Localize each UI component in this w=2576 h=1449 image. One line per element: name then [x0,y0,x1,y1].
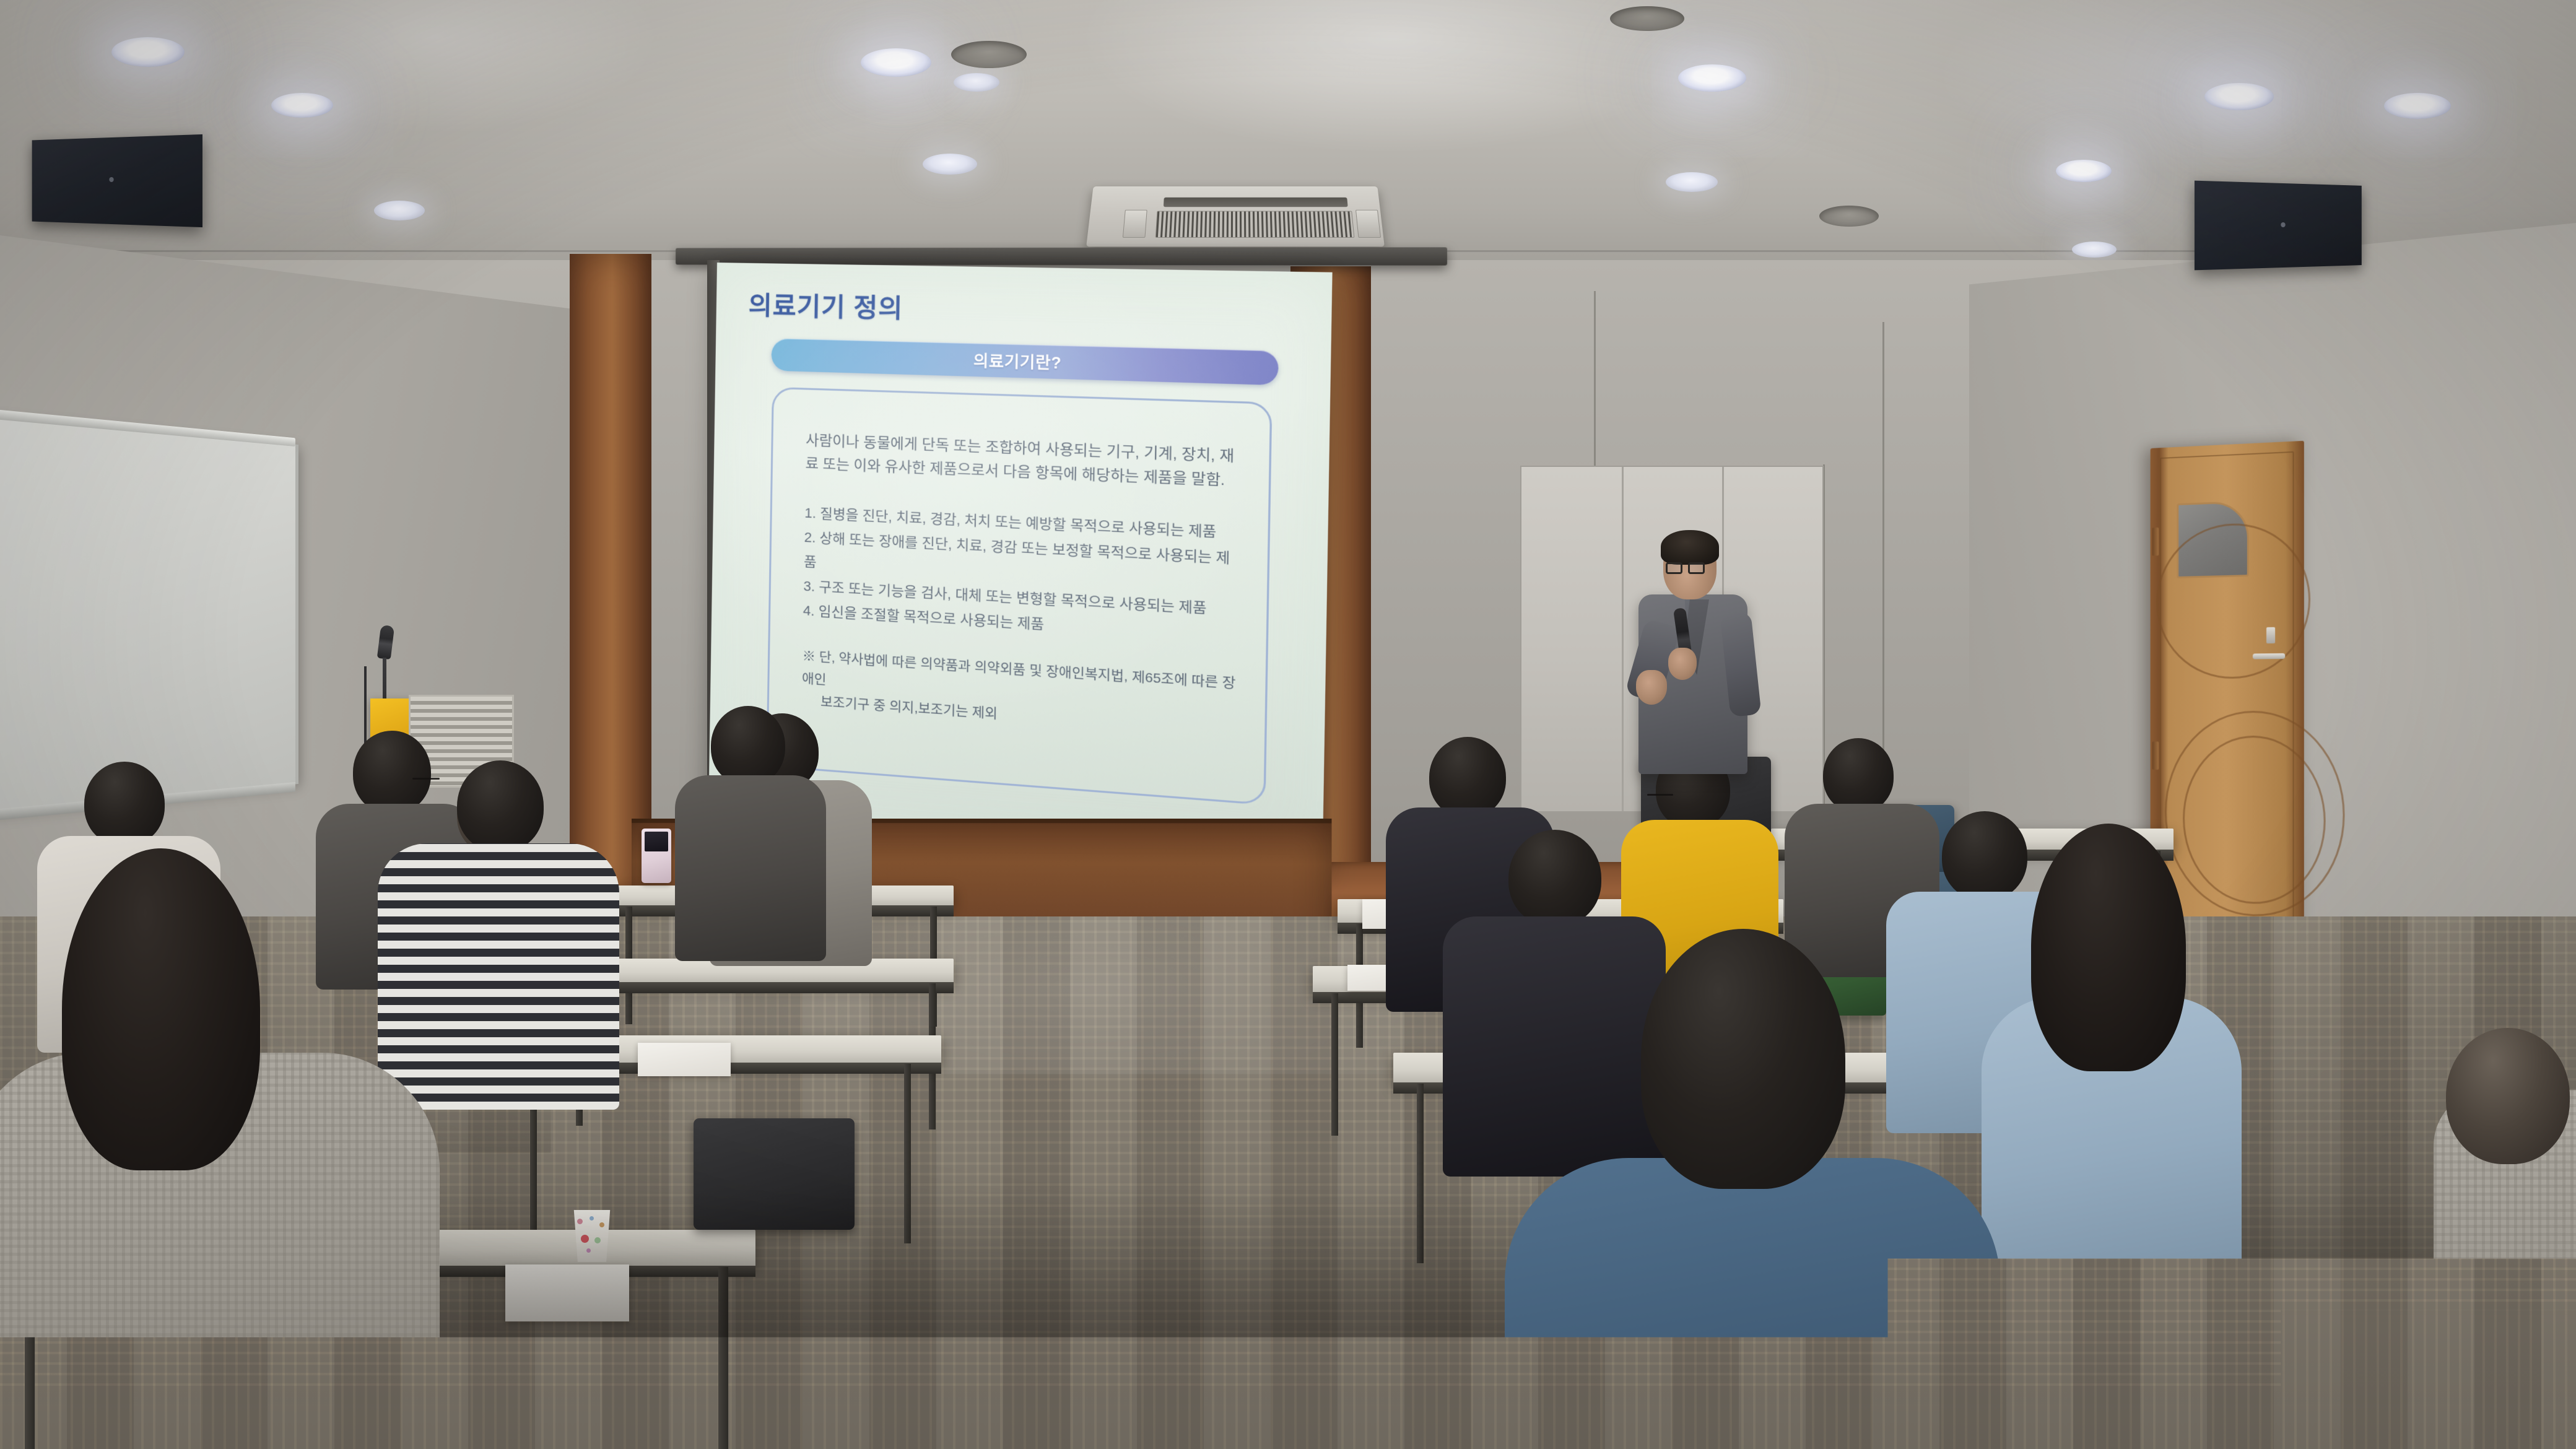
ceiling-ac-unit [1086,186,1385,246]
person-body [1443,916,1666,1177]
ceiling-vent-icon [1819,206,1879,227]
slide-banner: 의료기기란? [771,338,1279,385]
cup-dot [586,1248,591,1253]
slide-paragraph: 사람이나 동물에게 단독 또는 조합하여 사용되는 기구, 기계, 장치, 재료… [805,429,1242,493]
ceiling-downlight [2204,83,2274,110]
seminar-room-photo: 의료기기 정의 의료기기란? 사람이나 동물에게 단독 또는 조합하여 사용되는… [0,0,2576,1449]
cup-dot [599,1222,604,1227]
presenter-glasses [1688,562,1705,574]
wall-speaker [2195,181,2362,271]
person-long-hair [2031,824,2186,1071]
door-handle[interactable] [2253,653,2285,659]
person-body-denim [1505,1158,2000,1449]
cup-dot [594,1237,601,1243]
presenter-hand-left [1636,670,1667,705]
person-head [457,760,544,852]
person-head [1823,738,1894,812]
speaker-dot-icon [2281,222,2285,227]
glasses-icon [412,778,440,780]
paper-handout[interactable] [505,1264,629,1321]
person-long-hair [62,848,260,1170]
wood-pilaster [570,254,651,904]
ceiling-vent-icon [951,41,1027,68]
desk-leg [2415,1245,2424,1443]
ac-side-vent [1355,210,1381,238]
glasses-icon [1647,794,1673,796]
person-head [84,762,165,846]
desk-leg [1417,1084,1424,1263]
desk-leg [904,1064,911,1243]
person-body-striped [378,843,619,1110]
wall-panel-seam [1594,291,1596,471]
slide-banner-text: 의료기기란? [973,349,1062,374]
ceiling-downlight [111,37,185,67]
presenter [1638,535,1750,783]
person-head [1429,737,1506,817]
smartphone[interactable] [642,829,671,883]
slide-numbered-list: 1. 질병을 진단, 치료, 경감, 처치 또는 예방할 목적으로 사용되는 제… [803,500,1240,648]
slide-title: 의료기기 정의 [748,284,1300,334]
ceiling-downlight [2072,241,2117,258]
desk-leg [1331,993,1338,1136]
desk-leg [718,1267,728,1449]
ceiling-downlight [2384,93,2451,119]
person-head [353,731,431,814]
person-body [675,775,826,961]
ceiling-downlight [1678,64,1746,92]
person-head [1942,811,2027,900]
ceiling-downlight [923,154,977,175]
door-hinge [2152,741,2159,769]
person-head [2446,1028,2570,1164]
ceiling-downlight [2056,160,2112,182]
door-lock-icon[interactable] [2266,627,2275,643]
person-head [1641,929,1845,1189]
whiteboard [0,416,298,812]
presenter-glasses [1666,562,1682,574]
presenter-hand-right [1668,648,1697,680]
speaker-dot-icon [109,177,113,182]
ceiling-vent-icon [1610,6,1684,31]
presenter-hair [1661,530,1719,565]
door-hinge [2152,528,2159,556]
projector-screen-housing [676,247,1447,265]
ceiling-downlight [1666,172,1718,192]
cabinet-divider [1622,467,1624,811]
person-head [711,706,785,785]
chair[interactable] [694,1118,855,1230]
ceiling-downlight [271,93,333,118]
ac-slot [1164,198,1348,207]
ceiling-downlight [374,201,425,220]
slide-body-box: 사람이나 동물에게 단독 또는 조합하여 사용되는 기구, 기계, 장치, 재료… [766,387,1272,806]
paper-cup[interactable] [571,1210,613,1262]
cup-dot [577,1219,583,1224]
wall-panel-seam [1882,322,1884,817]
person-head [1508,830,1601,926]
cup-dot [590,1216,594,1221]
ceiling-downlight [954,73,999,92]
paper-handout[interactable] [638,1043,731,1076]
ac-grille-icon [1155,211,1355,238]
phone-screen [645,832,668,851]
cup-dot [581,1235,589,1243]
wall-speaker [32,134,202,227]
ceiling-downlight [861,48,931,77]
ac-side-vent [1123,210,1147,238]
